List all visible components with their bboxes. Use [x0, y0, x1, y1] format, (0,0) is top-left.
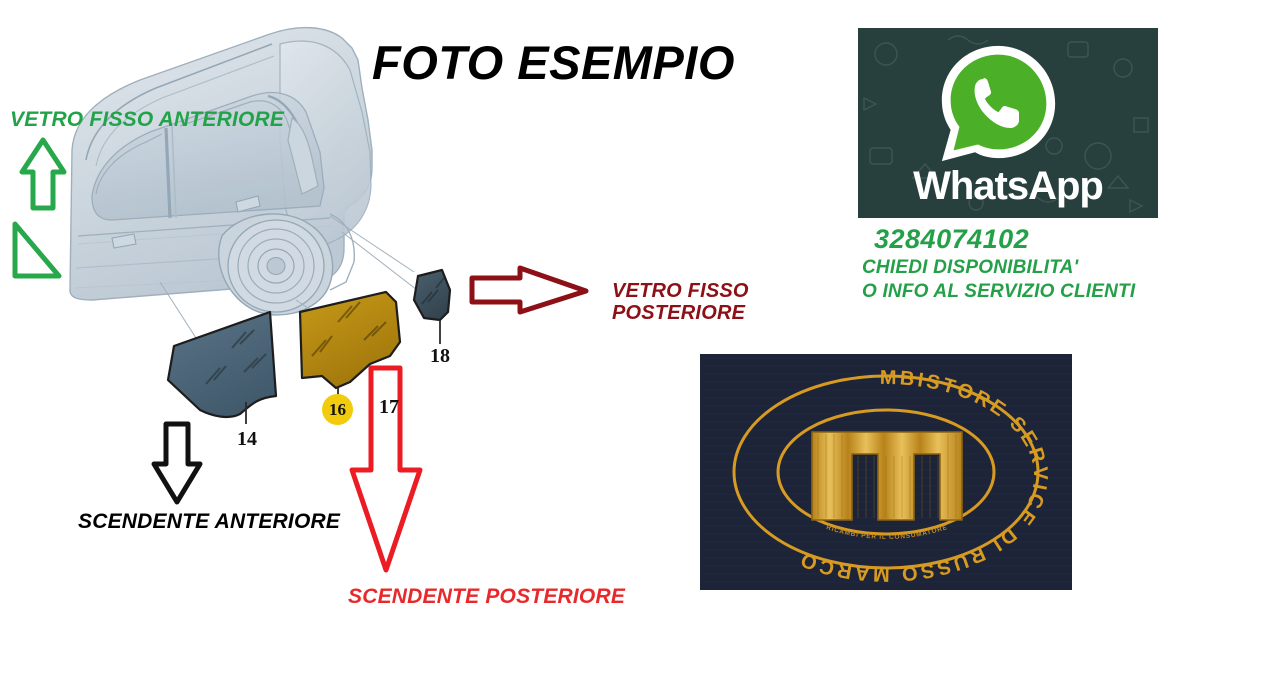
triangle-green-icon — [15, 224, 59, 276]
contact-block: 3284074102 CHIEDI DISPONIBILITA' O INFO … — [862, 224, 1202, 303]
logo-ring-text: MRICAMBISTORE SERVICE DI RUSSO MARCO — [700, 354, 1051, 585]
screenshot-root: VETRO FISSO ANTERIORE FOTO ESEMPIO VETRO… — [0, 0, 1264, 678]
phone-number[interactable]: 3284074102 — [862, 224, 1202, 255]
right-arrow-darkred-icon — [472, 268, 586, 312]
down-arrow-black-icon — [154, 424, 200, 502]
part-number-18: 18 — [430, 345, 450, 368]
part-number-16-badge: 16 — [322, 394, 353, 425]
whatsapp-phone-bubble-icon — [936, 40, 1061, 165]
part-14-front-drop-glass — [168, 312, 276, 424]
label-vetro-fisso-anteriore: VETRO FISSO ANTERIORE — [10, 108, 284, 132]
contact-line-customer-service: O INFO AL SERVIZIO CLIENTI — [862, 281, 1202, 303]
contact-line-availability: CHIEDI DISPONIBILITA' — [862, 257, 1202, 279]
label-scendente-anteriore: SCENDENTE ANTERIORE — [78, 510, 340, 534]
up-arrow-green-icon — [22, 140, 64, 208]
company-logo: MRICAMBISTORE SERVICE DI RUSSO MARCO RIC… — [700, 354, 1072, 590]
whatsapp-banner: WhatsApp — [858, 28, 1158, 218]
part-number-17: 17 — [379, 396, 399, 419]
logo-monogram — [812, 432, 962, 520]
part-number-14: 14 — [237, 428, 257, 451]
page-title: FOTO ESEMPIO — [372, 35, 735, 90]
logo-artwork: MRICAMBISTORE SERVICE DI RUSSO MARCO RIC… — [700, 354, 1072, 590]
svg-text:MRICAMBISTORE SERVICE DI RUSSO: MRICAMBISTORE SERVICE DI RUSSO MARCO — [700, 354, 1051, 585]
part-18-quarter-fixed-glass — [414, 270, 450, 344]
label-scendente-posteriore: SCENDENTE POSTERIORE — [348, 585, 625, 609]
whatsapp-wordmark: WhatsApp — [858, 164, 1158, 209]
label-vetro-fisso-posteriore: VETRO FISSO POSTERIORE — [612, 280, 749, 325]
